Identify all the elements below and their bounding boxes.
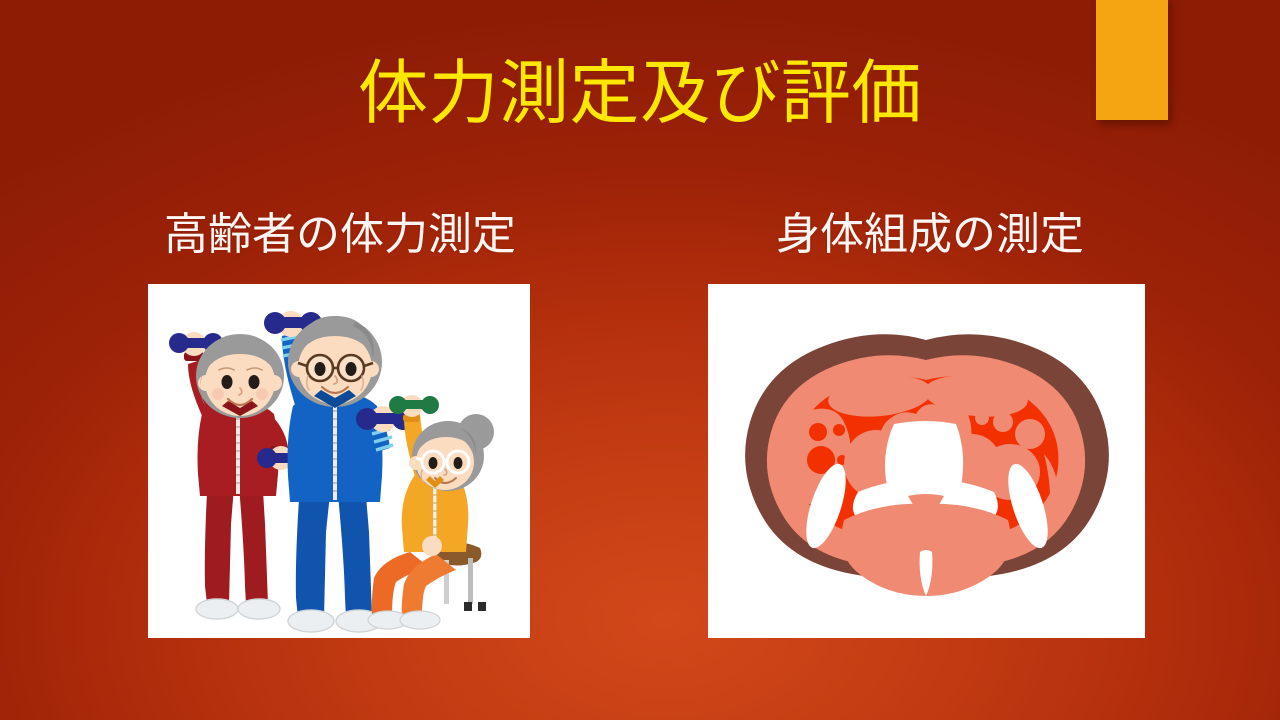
slide-title: 体力測定及び評価: [0, 56, 1280, 132]
caption-elderly-fitness: 高齢者の体力測定: [110, 210, 570, 259]
column-elderly-fitness: 高齢者の体力測定: [110, 210, 570, 259]
body-composition-ct-svg: [708, 284, 1145, 638]
body-composition-ct-illustration: [708, 284, 1145, 638]
slide-canvas: 体力測定及び評価 高齢者の体力測定: [0, 0, 1280, 720]
elderly-exercise-svg: [148, 284, 530, 638]
elderly-exercise-illustration: [148, 284, 530, 638]
column-body-composition: 身体組成の測定: [690, 210, 1170, 259]
caption-body-composition: 身体組成の測定: [690, 210, 1170, 259]
